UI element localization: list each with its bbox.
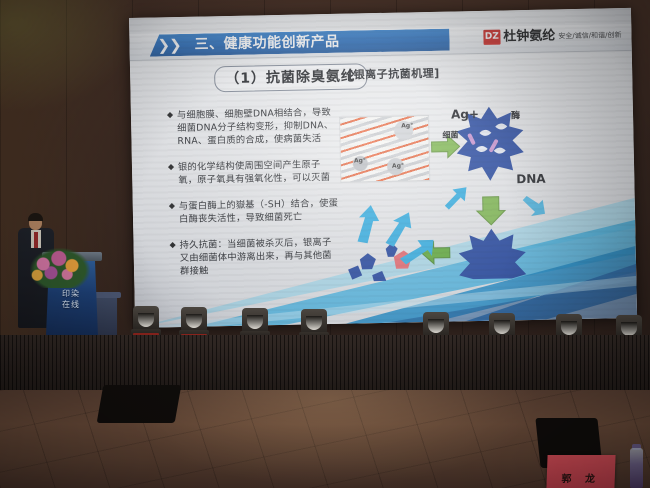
conference-photo: ❯❯ 三、健康功能创新产品 DZ 杜钟氨纶 安全/诚信/和谐/创新 （1）抗菌除… bbox=[0, 0, 650, 488]
wall-stain bbox=[0, 0, 150, 120]
floor-light-glow bbox=[120, 390, 540, 488]
screen-vignette bbox=[129, 8, 637, 328]
projection-screen: ❯❯ 三、健康功能创新产品 DZ 杜钟氨纶 安全/诚信/和谐/创新 （1）抗菌除… bbox=[129, 8, 637, 328]
stage-apron bbox=[0, 335, 650, 393]
water-bottle bbox=[630, 448, 643, 488]
stage-monitor-speaker bbox=[97, 385, 182, 423]
presenter-tie bbox=[34, 232, 38, 248]
podium-branding-text: 印染在线 bbox=[58, 288, 84, 310]
name-placard-text: 郭 龙 bbox=[561, 470, 600, 488]
presenter-hair bbox=[28, 213, 43, 221]
flower-arrangement bbox=[30, 248, 90, 288]
stage-apron-texture bbox=[0, 335, 650, 393]
name-placard: 郭 龙 bbox=[546, 455, 615, 488]
